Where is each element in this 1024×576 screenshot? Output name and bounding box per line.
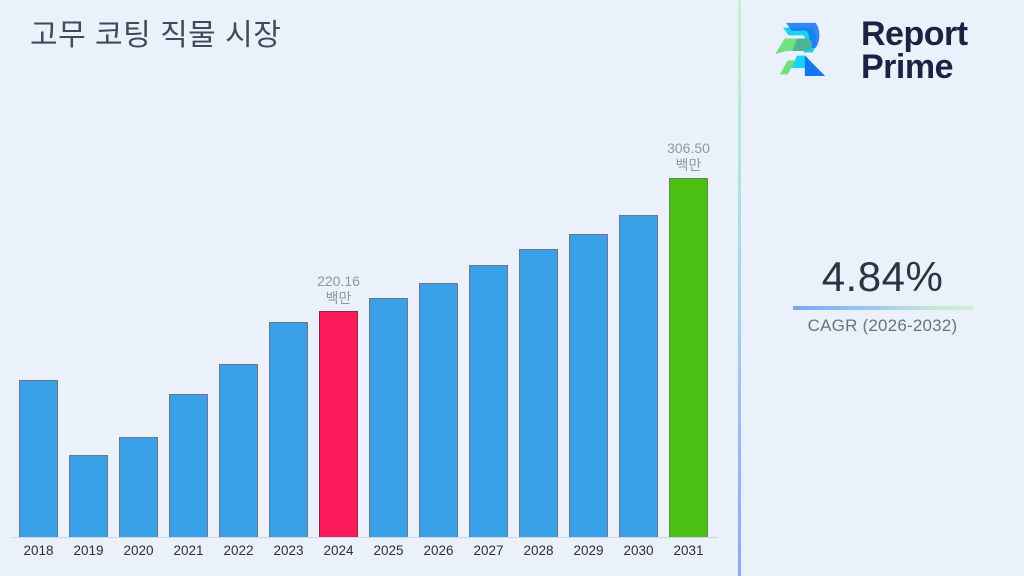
bar-value-label-2024: 220.16백만 bbox=[317, 273, 360, 307]
bar-rect-2031[interactable] bbox=[669, 178, 708, 537]
bar-2029[interactable] bbox=[569, 234, 608, 537]
bar-value-2024: 220.16 bbox=[317, 273, 360, 290]
bar-unit-2031: 백만 bbox=[667, 157, 710, 174]
x-tick-2031: 2031 bbox=[669, 543, 708, 558]
bar-2028[interactable] bbox=[519, 249, 558, 537]
x-tick-2028: 2028 bbox=[519, 543, 558, 558]
bar-rect-2030[interactable] bbox=[619, 215, 658, 537]
bar-2022[interactable] bbox=[219, 364, 258, 537]
cagr-divider-rule bbox=[793, 306, 973, 310]
x-tick-2030: 2030 bbox=[619, 543, 658, 558]
x-tick-2023: 2023 bbox=[269, 543, 308, 558]
x-tick-2021: 2021 bbox=[169, 543, 208, 558]
bar-2020[interactable] bbox=[119, 437, 158, 537]
bar-2030[interactable] bbox=[619, 215, 658, 537]
bar-rect-2027[interactable] bbox=[469, 265, 508, 537]
cagr-label: CAGR (2026-2032) bbox=[741, 316, 1024, 336]
x-axis-baseline bbox=[12, 537, 718, 538]
bar-2024[interactable]: 220.16백만 bbox=[319, 311, 358, 537]
bar-rect-2022[interactable] bbox=[219, 364, 258, 537]
bar-chart-plot-area: 220.16백만306.50백만 bbox=[0, 110, 738, 538]
logo-wordmark: Report Prime bbox=[861, 18, 968, 85]
bar-rect-2023[interactable] bbox=[269, 322, 308, 537]
bar-rect-2026[interactable] bbox=[419, 283, 458, 537]
bar-rect-2021[interactable] bbox=[169, 394, 208, 537]
bar-rect-2025[interactable] bbox=[369, 298, 408, 537]
bar-rect-2020[interactable] bbox=[119, 437, 158, 537]
x-tick-2020: 2020 bbox=[119, 543, 158, 558]
chart-title: 고무 코팅 직물 시장 bbox=[30, 10, 281, 54]
bar-rect-2019[interactable] bbox=[69, 455, 108, 537]
x-tick-2025: 2025 bbox=[369, 543, 408, 558]
logo-line-2: Prime bbox=[861, 51, 968, 84]
bar-value-label-2031: 306.50백만 bbox=[667, 140, 710, 174]
bar-2027[interactable] bbox=[469, 265, 508, 537]
cagr-block: 4.84% CAGR (2026-2032) bbox=[741, 255, 1024, 336]
bar-rect-2028[interactable] bbox=[519, 249, 558, 537]
x-tick-2024: 2024 bbox=[319, 543, 358, 558]
chart-panel: 고무 코팅 직물 시장 220.16백만306.50백만 20182019202… bbox=[0, 0, 738, 576]
x-axis-tick-labels: 2018201920202021202220232024202520262027… bbox=[0, 543, 738, 569]
cagr-value: 4.84% bbox=[741, 255, 1024, 299]
x-tick-2019: 2019 bbox=[69, 543, 108, 558]
bar-2023[interactable] bbox=[269, 322, 308, 537]
x-tick-2018: 2018 bbox=[19, 543, 58, 558]
bar-2025[interactable] bbox=[369, 298, 408, 537]
bar-rect-2018[interactable] bbox=[19, 380, 58, 537]
report-prime-logo-mark bbox=[769, 12, 847, 90]
bar-rect-2029[interactable] bbox=[569, 234, 608, 537]
report-prime-logo: Report Prime bbox=[769, 12, 968, 90]
x-tick-2022: 2022 bbox=[219, 543, 258, 558]
bar-2019[interactable] bbox=[69, 455, 108, 537]
bar-2031[interactable]: 306.50백만 bbox=[669, 178, 708, 537]
x-tick-2026: 2026 bbox=[419, 543, 458, 558]
bar-unit-2024: 백만 bbox=[317, 290, 360, 307]
x-tick-2027: 2027 bbox=[469, 543, 508, 558]
bar-2018[interactable] bbox=[19, 380, 58, 537]
bar-value-2031: 306.50 bbox=[667, 140, 710, 157]
x-tick-2029: 2029 bbox=[569, 543, 608, 558]
logo-line-1: Report bbox=[861, 18, 968, 51]
bar-2021[interactable] bbox=[169, 394, 208, 537]
brand-panel: Report Prime 4.84% CAGR (2026-2032) bbox=[741, 0, 1024, 576]
bar-2026[interactable] bbox=[419, 283, 458, 537]
bar-rect-2024[interactable] bbox=[319, 311, 358, 537]
